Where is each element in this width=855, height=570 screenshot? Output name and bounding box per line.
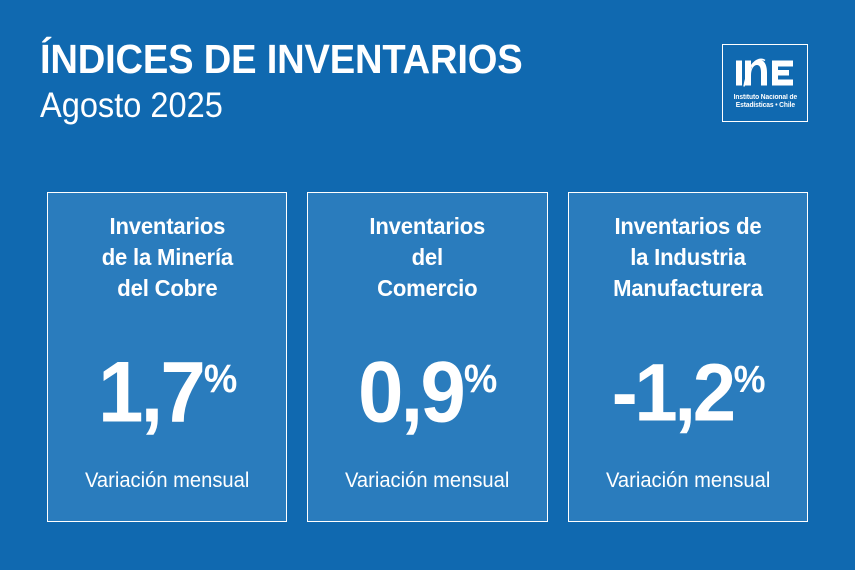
card-caption: Variación mensual [53, 468, 282, 494]
page-title: ÍNDICES DE INVENTARIOS [40, 36, 635, 82]
page-subtitle: Agosto 2025 [40, 85, 635, 127]
card-title-line: del Cobre [102, 273, 233, 304]
card-title-line: Comercio [370, 273, 486, 304]
card-title: Inventarios de la Industria Manufacturer… [607, 193, 768, 304]
card-title-line: de la Minería [102, 242, 233, 273]
header: ÍNDICES DE INVENTARIOS Agosto 2025 Insti… [0, 0, 855, 175]
card-value-number: 1,7 [98, 345, 203, 441]
card-title-line: la Industria [613, 242, 763, 273]
card-industria-manufacturera: Inventarios de la Industria Manufacturer… [568, 192, 808, 522]
card-value-unit: % [733, 358, 764, 400]
card-comercio: Inventarios del Comercio 0,9% Variación … [307, 192, 547, 522]
card-value-number: -1,2 [611, 347, 732, 438]
card-caption: Variación mensual [573, 468, 802, 494]
card-value-unit: % [464, 357, 496, 401]
ine-logo-icon [734, 56, 796, 90]
ine-logo: Instituto Nacional de Estadísticas • Chi… [722, 44, 808, 122]
ine-logo-caption-line1: Instituto Nacional de [733, 94, 796, 103]
card-title-line: Manufacturera [613, 273, 763, 304]
card-value: -1,2% [575, 331, 801, 441]
ine-logo-caption-line2: Estadísticas • Chile [733, 102, 796, 111]
card-title: Inventarios del Comercio [364, 193, 491, 304]
card-value: 1,7% [54, 331, 280, 441]
card-caption: Variación mensual [313, 468, 542, 494]
card-value: 0,9% [314, 331, 540, 441]
card-title-line: Inventarios de [613, 211, 763, 242]
card-mineria-del-cobre: Inventarios de la Minería del Cobre 1,7%… [47, 192, 287, 522]
header-text-group: ÍNDICES DE INVENTARIOS Agosto 2025 [40, 36, 680, 127]
card-title-line: Inventarios [370, 211, 486, 242]
card-value-unit: % [204, 357, 236, 401]
card-value-number: 0,9 [358, 345, 463, 441]
inventory-indices-infographic: ÍNDICES DE INVENTARIOS Agosto 2025 Insti… [0, 0, 855, 570]
indicator-cards: Inventarios de la Minería del Cobre 1,7%… [47, 192, 808, 522]
ine-logo-caption: Instituto Nacional de Estadísticas • Chi… [733, 94, 796, 111]
card-title: Inventarios de la Minería del Cobre [96, 193, 239, 304]
card-title-line: del [370, 242, 486, 273]
card-title-line: Inventarios [102, 211, 233, 242]
